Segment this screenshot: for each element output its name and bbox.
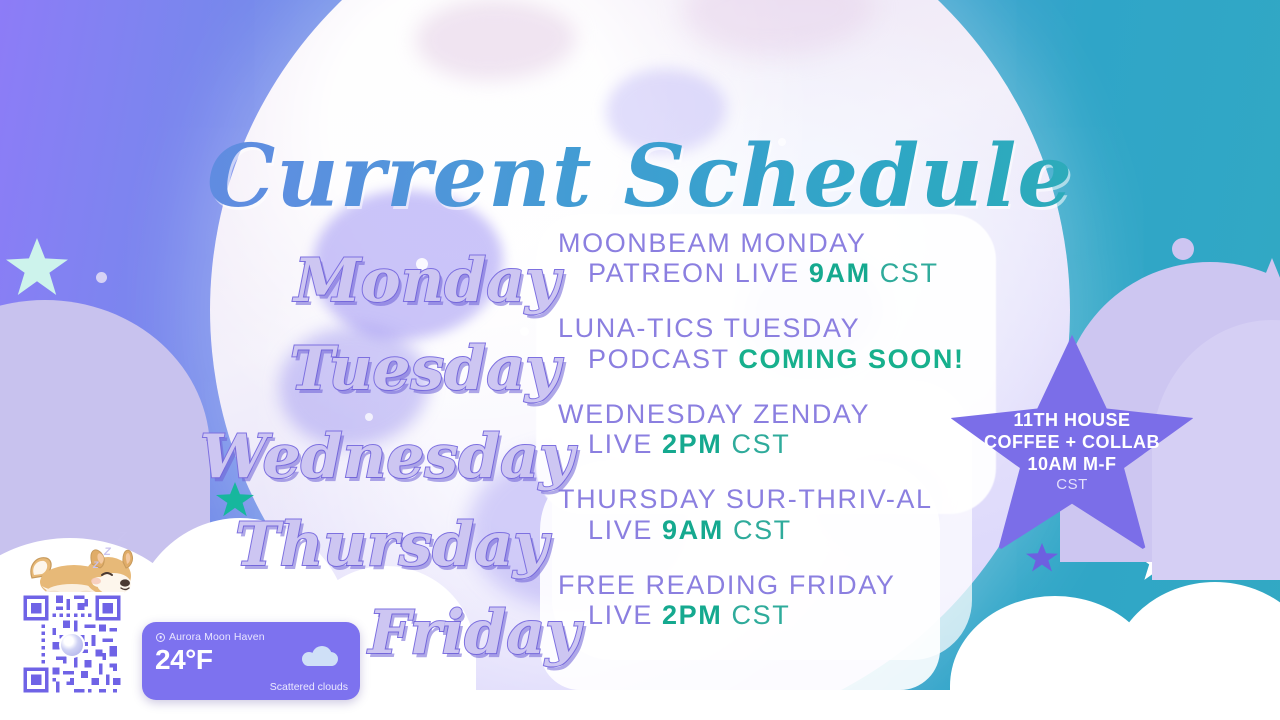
schedule-graphic: Current Schedule Monday Tuesday Wednesda… <box>0 0 1280 720</box>
entry-detail: LIVE 2PM CST <box>558 600 1028 630</box>
entry-zone: CST <box>733 515 792 545</box>
badge-line-1: 11TH HOUSE <box>956 410 1188 432</box>
badge-line-3: 10AM M-F <box>956 454 1188 476</box>
entry-detail: PATREON LIVE 9AM CST <box>558 258 1028 288</box>
zzz-icon-3: Z <box>93 560 99 570</box>
entry-time: 9AM <box>662 515 724 545</box>
entry-detail-prefix: LIVE <box>588 600 662 630</box>
zzz-icon-2: Z <box>104 546 111 558</box>
weather-location-label: Aurora Moon Haven <box>169 631 265 643</box>
entry-zone: CST <box>731 429 790 459</box>
schedule-entry-friday: FREE READING FRIDAY LIVE 2PM CST <box>558 570 1028 630</box>
weather-temperature: 24°F <box>155 644 212 676</box>
badge-line-4: CST <box>956 476 1188 494</box>
entry-zone: CST <box>880 258 939 288</box>
badge-line-2: COFFEE + COLLAB <box>956 432 1188 454</box>
entry-title: FREE READING FRIDAY <box>558 570 1028 600</box>
entry-detail-prefix: PODCAST <box>588 344 738 374</box>
entry-status: COMING SOON! <box>738 344 964 374</box>
weather-condition: Scattered clouds <box>270 681 348 693</box>
entry-space <box>724 515 733 545</box>
entry-time: 9AM <box>809 258 871 288</box>
entry-time: 2PM <box>662 600 722 630</box>
day-label-tuesday: Tuesday <box>200 334 560 404</box>
location-pin-icon <box>156 633 165 642</box>
entry-time: 2PM <box>662 429 722 459</box>
entry-title: MOONBEAM MONDAY <box>558 228 1028 258</box>
qr-code[interactable] <box>20 592 124 698</box>
day-label-wednesday: Wednesday <box>200 422 562 492</box>
collab-badge[interactable]: 11TH HOUSE COFFEE + COLLAB 10AM M-F CST <box>956 338 1188 560</box>
day-label-thursday: Thursday <box>200 510 548 580</box>
entry-space <box>871 258 880 288</box>
entry-detail-prefix: LIVE <box>588 515 662 545</box>
qr-center-moon-icon <box>59 632 85 658</box>
cloud-icon <box>302 648 338 666</box>
day-label-monday: Monday <box>200 246 560 316</box>
entry-detail-prefix: PATREON LIVE <box>588 258 809 288</box>
schedule-entry-monday: MOONBEAM MONDAY PATREON LIVE 9AM CST <box>558 228 1028 288</box>
collab-badge-text: 11TH HOUSE COFFEE + COLLAB 10AM M-F CST <box>956 410 1188 494</box>
weather-location: Aurora Moon Haven <box>156 631 265 643</box>
weather-widget[interactable]: Aurora Moon Haven 24°F Scattered clouds <box>142 622 360 700</box>
zzz-icon-1: Z <box>118 528 127 544</box>
entry-zone: CST <box>731 600 790 630</box>
entry-detail-prefix: LIVE <box>588 429 662 459</box>
